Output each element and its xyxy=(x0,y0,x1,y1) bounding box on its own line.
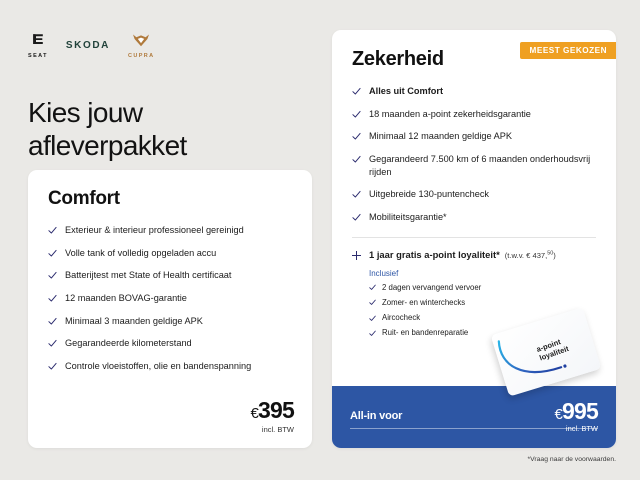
list-item: Uitgebreide 130-puntencheck xyxy=(352,188,596,201)
list-item: Mobiliteitsgarantie* xyxy=(352,211,596,224)
check-icon xyxy=(369,330,376,337)
check-icon xyxy=(352,110,361,119)
zekerheid-feature-list: Alles uit Comfort 18 maanden a-point zek… xyxy=(352,85,596,224)
loyalty-bonus-row: 1 jaar gratis a-point loyaliteit*(t.w.v.… xyxy=(352,249,596,260)
skoda-logo: SKODA xyxy=(66,41,110,51)
comfort-card-title: Comfort xyxy=(48,188,292,210)
loyalty-bonus-label: 1 jaar gratis a-point loyaliteit* xyxy=(369,249,500,260)
plus-icon xyxy=(352,251,361,260)
zekerheid-feature-text: 18 maanden a-point zekerheidsgarantie xyxy=(369,108,596,121)
footnote-text: *Vraag naar de voorwaarden. xyxy=(527,456,616,463)
check-icon xyxy=(48,249,57,258)
check-icon xyxy=(369,315,376,322)
comfort-feature-text: Gegarandeerde kilometerstand xyxy=(65,337,292,350)
page-title-line-2: afleverpakket xyxy=(28,130,187,161)
all-in-label: All-in voor xyxy=(350,410,402,422)
zekerheid-card-body: Zekerheid Alles uit Comfort 18 maanden a… xyxy=(332,30,616,338)
check-icon xyxy=(48,226,57,235)
list-item: Exterieur & interieur professioneel gere… xyxy=(48,224,292,237)
price-underline xyxy=(350,428,598,429)
check-icon xyxy=(352,155,361,164)
list-item: Minimaal 12 maanden geldige APK xyxy=(352,130,596,143)
check-icon xyxy=(352,87,361,96)
cupra-wordmark: CUPRA xyxy=(128,54,155,60)
check-icon xyxy=(48,339,57,348)
check-icon xyxy=(48,317,57,326)
check-icon xyxy=(352,213,361,222)
cupra-logo: CUPRA xyxy=(128,33,155,60)
comfort-feature-text: Batterijtest met State of Health certifi… xyxy=(65,269,292,282)
cupra-logo-icon xyxy=(132,33,150,52)
comfort-feature-text: Minimaal 3 maanden geldige APK xyxy=(65,315,292,328)
page-title-line-1: Kies jouw xyxy=(28,97,142,128)
list-item: 12 maanden BOVAG-garantie xyxy=(48,292,292,305)
comfort-price-amount: 395 xyxy=(258,397,294,423)
comfort-feature-text: 12 maanden BOVAG-garantie xyxy=(65,292,292,305)
list-item: Zomer- en winterchecks xyxy=(369,298,596,308)
comfort-price: €395 xyxy=(250,399,294,422)
zekerheid-feature-text: Mobiliteitsgarantie* xyxy=(369,211,596,224)
check-icon xyxy=(369,284,376,291)
zekerheid-feature-text: Minimaal 12 maanden geldige APK xyxy=(369,130,596,143)
check-icon xyxy=(369,299,376,306)
comfort-price-block: €395 incl. BTW xyxy=(250,399,294,434)
loyalty-value-suffix: ) xyxy=(553,251,556,260)
loyalty-bonus-text: 1 jaar gratis a-point loyaliteit*(t.w.v.… xyxy=(369,249,556,260)
comfort-feature-text: Controle vloeistoffen, olie en bandenspa… xyxy=(65,360,292,373)
check-icon xyxy=(352,190,361,199)
zekerheid-package-card[interactable]: MEEST GEKOZEN Zekerheid Alles uit Comfor… xyxy=(332,30,616,448)
inclusief-item-text: Aircocheck xyxy=(382,313,420,323)
comfort-package-card[interactable]: Comfort Exterieur & interieur profession… xyxy=(28,170,312,448)
comfort-feature-list: Exterieur & interieur professioneel gere… xyxy=(48,224,292,373)
zekerheid-feature-text: Alles uit Comfort xyxy=(369,85,596,98)
inclusief-item-text: 2 dagen vervangend vervoer xyxy=(382,283,481,293)
list-item: 2 dagen vervangend vervoer xyxy=(369,283,596,293)
page-title: Kies jouw afleverpakket xyxy=(28,97,187,163)
comfort-price-currency: € xyxy=(250,405,258,422)
inclusief-title: Inclusief xyxy=(369,269,596,278)
section-divider xyxy=(352,237,596,238)
zekerheid-price-amount: 995 xyxy=(562,398,598,424)
status-badge: MEEST GEKOZEN xyxy=(520,42,616,59)
zekerheid-price-vat-note: incl. BTW xyxy=(566,424,598,433)
inclusief-item-text: Ruit- en bandenreparatie xyxy=(382,328,468,338)
check-icon xyxy=(48,271,57,280)
loyalty-value-prefix: (t.w.v. € 437, xyxy=(505,251,548,260)
skoda-wordmark: SKODA xyxy=(66,41,110,51)
list-item: Batterijtest met State of Health certifi… xyxy=(48,269,292,282)
zekerheid-price-row: All-in voor €995 xyxy=(350,400,598,423)
list-item: Volle tank of volledig opgeladen accu xyxy=(48,247,292,260)
comfort-feature-text: Exterieur & interieur professioneel gere… xyxy=(65,224,292,237)
seat-wordmark: SEAT xyxy=(28,54,48,60)
check-icon xyxy=(48,362,57,371)
list-item: Gegarandeerd 7.500 km of 6 maanden onder… xyxy=(352,153,596,178)
zekerheid-feature-text: Uitgebreide 130-puntencheck xyxy=(369,188,596,201)
zekerheid-price-footer: All-in voor €995 incl. BTW xyxy=(332,386,616,448)
list-item: Controle vloeistoffen, olie en bandenspa… xyxy=(48,360,292,373)
comfort-feature-text: Volle tank of volledig opgeladen accu xyxy=(65,247,292,260)
list-item: Minimaal 3 maanden geldige APK xyxy=(48,315,292,328)
zekerheid-price-currency: € xyxy=(554,406,562,423)
list-item: 18 maanden a-point zekerheidsgarantie xyxy=(352,108,596,121)
comfort-price-vat-note: incl. BTW xyxy=(250,425,294,434)
comfort-card-body: Comfort Exterieur & interieur profession… xyxy=(28,170,312,373)
check-icon xyxy=(48,294,57,303)
list-item: Gegarandeerde kilometerstand xyxy=(48,337,292,350)
seat-logo: SEAT xyxy=(28,32,48,60)
inclusief-item-text: Zomer- en winterchecks xyxy=(382,298,465,308)
brand-logo-bar: SEAT SKODA CUPRA xyxy=(28,32,155,60)
pricing-page: SEAT SKODA CUPRA Kies jouw afleverpakket… xyxy=(0,0,640,480)
loyalty-bonus-value: (t.w.v. € 437,50) xyxy=(505,251,556,260)
zekerheid-price: €995 xyxy=(554,400,598,423)
zekerheid-feature-text: Gegarandeerd 7.500 km of 6 maanden onder… xyxy=(369,153,596,178)
check-icon xyxy=(352,132,361,141)
seat-logo-icon xyxy=(30,32,46,52)
list-item: Alles uit Comfort xyxy=(352,85,596,98)
